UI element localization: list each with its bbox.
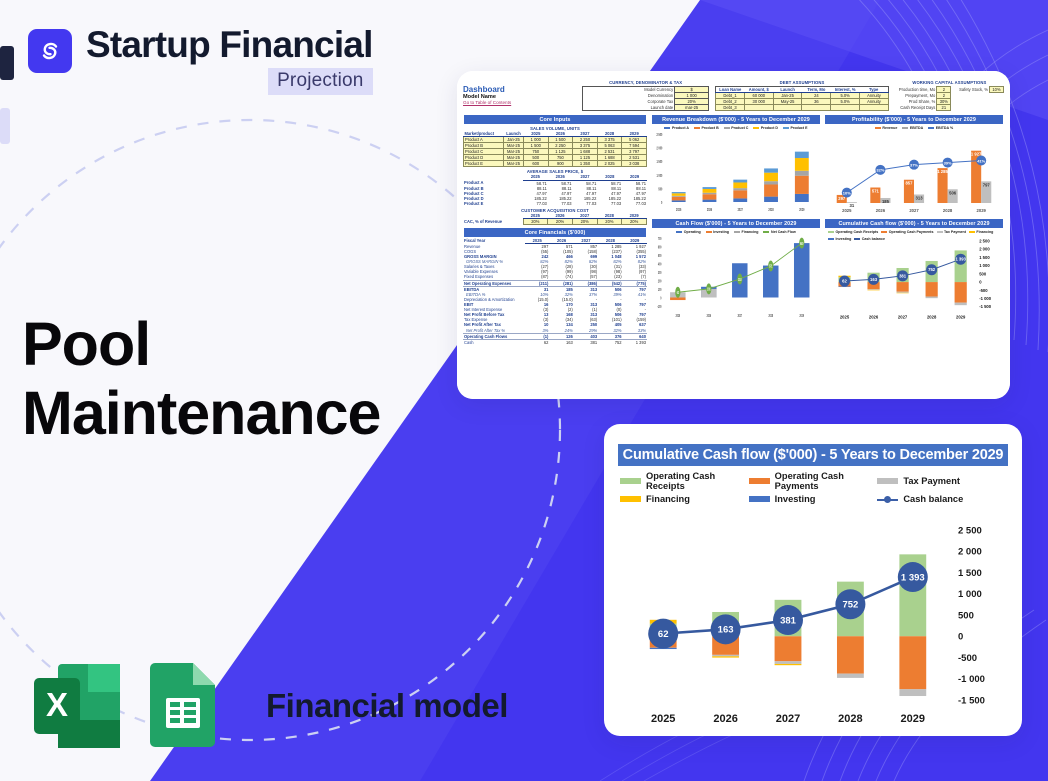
svg-text:2029: 2029: [901, 713, 925, 725]
legend-item: Financing: [734, 230, 758, 234]
legend-item-financing: Financing: [620, 494, 749, 504]
svg-text:1 000: 1 000: [958, 589, 982, 600]
legend-item: EBITDA %: [928, 126, 953, 130]
svg-text:797: 797: [983, 183, 991, 188]
cac-table: 2025 2026 2027 2028 2029 CAC, % of Reven…: [463, 213, 647, 225]
svg-text:0: 0: [958, 632, 963, 643]
microsoft-excel-icon: X: [30, 660, 126, 752]
chart-plot-area: 297315711858573131 2855061 92779710%32%3…: [824, 130, 1004, 214]
svg-text:2025: 2025: [842, 208, 852, 213]
legend-item: Tax Payment: [937, 230, 966, 234]
svg-text:10%: 10%: [843, 191, 851, 196]
svg-text:300: 300: [658, 271, 662, 276]
format-badges: X Financial model: [30, 660, 508, 752]
svg-text:700: 700: [658, 237, 662, 242]
svg-text:2025: 2025: [651, 713, 675, 725]
dashboard-title: Dashboard: [463, 85, 582, 94]
svg-text:-500: -500: [958, 653, 977, 664]
svg-text:1 393: 1 393: [955, 257, 966, 262]
svg-text:1 285: 1 285: [937, 170, 948, 175]
table-row: Product E77.0377.0377.0377.0377.03: [463, 201, 647, 206]
page-title-line-1: Pool: [22, 310, 381, 379]
svg-text:2026: 2026: [869, 315, 879, 320]
svg-text:640: 640: [800, 242, 803, 247]
svg-text:-500: -500: [979, 288, 988, 293]
svg-text:-1 500: -1 500: [958, 695, 985, 706]
svg-text:-1 000: -1 000: [958, 674, 985, 685]
core-financials-title: Core Financials ($'000): [463, 227, 647, 237]
svg-text:2029: 2029: [800, 314, 804, 319]
core-inputs-title: Core Inputs: [463, 114, 647, 124]
svg-text:600: 600: [658, 245, 662, 250]
svg-text:500: 500: [979, 272, 987, 277]
svg-text:500: 500: [658, 254, 662, 259]
svg-text:1 000: 1 000: [979, 264, 990, 269]
legend-item: Operating Cash Payments: [881, 230, 933, 234]
svg-text:2 500: 2 500: [979, 239, 990, 244]
chart-title: Revenue Breakdown ($'000) - 5 Years to D…: [651, 114, 821, 124]
cell: 1 393: [623, 339, 647, 345]
svg-text:2029: 2029: [799, 206, 805, 212]
chart-title: Cumulative Cash flow ($'000) - 5 Years t…: [618, 444, 1008, 466]
google-sheets-icon: [144, 660, 240, 752]
chart-plot-area: 2 5002 0001 5001 00050002025202620272028…: [651, 130, 821, 214]
svg-text:1 393: 1 393: [901, 572, 925, 583]
excel-glyph-icon: X: [30, 660, 126, 752]
legend-item: Financing: [969, 230, 993, 234]
currency-table: Model Currency$ Denomination1 000 Corpor…: [582, 86, 709, 111]
svg-text:857: 857: [905, 181, 913, 186]
svg-text:-1 500: -1 500: [979, 305, 992, 310]
svg-text:313: 313: [916, 196, 924, 201]
legend-item: Investing: [706, 230, 729, 234]
svg-text:500: 500: [958, 610, 974, 621]
svg-text:1 500: 1 500: [656, 159, 662, 165]
svg-text:1 500: 1 500: [979, 255, 990, 260]
sheets-glyph-icon: [144, 660, 240, 752]
chart-legend: Product A Product B Product C Product D …: [651, 125, 821, 130]
svg-text:1 500: 1 500: [958, 568, 982, 579]
svg-text:2029: 2029: [956, 315, 966, 320]
legend-item: Net Cash Flow: [763, 230, 795, 234]
cell: 62: [525, 339, 549, 345]
svg-text:163: 163: [718, 625, 734, 636]
svg-text:185: 185: [882, 199, 890, 204]
chart-legend: Operating Investing Financing Net Cash F…: [651, 229, 821, 234]
chart-title: Profitability ($'000) - 5 Years to Decem…: [824, 114, 1004, 124]
svg-text:2 000: 2 000: [979, 247, 990, 252]
svg-text:371: 371: [769, 264, 772, 269]
svg-text:2028: 2028: [943, 208, 953, 213]
row-label: Cash: [463, 339, 525, 345]
svg-text:2025: 2025: [840, 315, 850, 320]
svg-text:62: 62: [658, 629, 669, 640]
svg-text:2 500: 2 500: [656, 131, 662, 137]
svg-text:41%: 41%: [977, 159, 985, 164]
working-capital-table: Production time, Mo 2 Safety Stock, % 10…: [895, 86, 1004, 111]
logo-mark-icon: [28, 29, 72, 73]
chart-title: Cumulative Cash flow ($'000) - 5 Years t…: [824, 218, 1004, 228]
legend-item: Product C: [724, 126, 749, 130]
svg-text:2027: 2027: [738, 314, 742, 319]
core-financials-table: Fiscal Year 2025 2026 2027 2028 2029 Rev…: [463, 238, 647, 345]
table-row: CAC, % of Revenue 20% 20% 20% 20% 20%: [463, 219, 647, 225]
svg-text:200: 200: [658, 279, 662, 284]
svg-text:0: 0: [661, 199, 662, 205]
svg-text:2028: 2028: [927, 315, 937, 320]
brand-logo: Startup Financial Projection: [28, 26, 373, 95]
chart-legend: Operating Cash Receipts Operating Cash P…: [620, 471, 1006, 504]
svg-text:506: 506: [949, 191, 957, 196]
legend-item-operating-cash-receipts: Operating Cash Receipts: [620, 471, 749, 491]
svg-text:752: 752: [928, 268, 936, 273]
wc-section-title: WORKING CAPITAL ASSUMPTIONS: [895, 80, 1004, 85]
cell: 381: [574, 339, 598, 345]
dashboard-screenshot-card[interactable]: Dashboard Model Name Go to Table of Cont…: [457, 71, 1010, 399]
logo-glyph-icon: [36, 37, 64, 65]
dashboard-toc-link[interactable]: Go to Table of Contents: [463, 100, 582, 105]
svg-text:-1 000: -1 000: [979, 296, 992, 301]
svg-text:100: 100: [658, 288, 662, 293]
legend-item: Operating: [676, 230, 700, 234]
svg-text:0: 0: [979, 280, 982, 285]
table-row: Debt_3: [716, 105, 889, 111]
chart-profitability[interactable]: Profitability ($'000) - 5 Years to Decem…: [824, 114, 1004, 215]
svg-text:2027: 2027: [776, 713, 800, 725]
svg-text:32%: 32%: [876, 168, 884, 173]
svg-text:163: 163: [870, 277, 878, 282]
chart-cash-flow[interactable]: Cash Flow ($'000) - 5 Years to December …: [651, 218, 821, 321]
brand-subtitle: Projection: [268, 68, 373, 95]
brand-title: Startup Financial: [86, 26, 373, 65]
svg-text:218: 218: [738, 277, 741, 282]
debt-section-title: DEBT ASSUMPTIONS: [715, 80, 889, 85]
svg-text:2027: 2027: [909, 208, 919, 213]
debt-table: Loan Name Amount, $ Launch Term, Mo Inte…: [715, 86, 889, 111]
svg-text:39%: 39%: [944, 161, 952, 166]
legend-item: EBITDA: [902, 126, 923, 130]
legend-item: Product D: [753, 126, 778, 130]
chart-legend: Revenue EBITDA EBITDA %: [824, 125, 1004, 130]
chart-title: Cash Flow ($'000) - 5 Years to December …: [651, 218, 821, 228]
svg-text:2 500: 2 500: [958, 525, 982, 536]
svg-text:1 000: 1 000: [656, 172, 662, 178]
svg-text:2026: 2026: [876, 208, 886, 213]
table-row: Product EMar-256009001 3502 0253 038: [464, 161, 647, 167]
svg-text:2029: 2029: [977, 208, 987, 213]
table-row: Launch datemar-25: [583, 105, 709, 111]
svg-text:2025: 2025: [676, 206, 682, 212]
legend-item: Product B: [694, 126, 719, 130]
legend-item: Operating Cash Receipts: [828, 230, 878, 234]
cumulative-cash-flow-chart-card[interactable]: Cumulative Cash flow ($'000) - 5 Years t…: [604, 424, 1022, 736]
legend-item-operating-cash-payments: Operating Cash Payments: [749, 471, 878, 491]
svg-text:571: 571: [872, 189, 880, 194]
svg-text:2025: 2025: [676, 314, 680, 319]
chart-plot-area: 2 5002 0001 5001 0005000-500-1 000-1 500…: [824, 237, 1004, 320]
cell: 752: [598, 339, 622, 345]
avg-price-table: 2025 2026 2027 2028 2029 Product A58.715…: [463, 174, 647, 206]
svg-text:381: 381: [899, 274, 907, 279]
format-label: Financial model: [266, 687, 508, 725]
svg-text:2028: 2028: [838, 713, 862, 725]
table-row: Cash621633817521 393: [463, 339, 647, 345]
svg-text:2026: 2026: [707, 314, 711, 319]
chart-plot-area: 7006005004003002001000-10020252026202720…: [651, 234, 821, 320]
svg-text:0: 0: [660, 296, 661, 301]
svg-text:381: 381: [780, 615, 797, 626]
svg-text:37%: 37%: [910, 163, 918, 168]
svg-text:500: 500: [658, 186, 662, 192]
svg-text:101: 101: [707, 287, 710, 292]
legend-item: Product E: [783, 126, 807, 130]
svg-text:2026: 2026: [707, 206, 713, 212]
chart-revenue-breakdown[interactable]: Revenue Breakdown ($'000) - 5 Years to D…: [651, 114, 821, 215]
sales-volume-table: Market/product Launch 2025 2026 2027 202…: [463, 131, 647, 168]
svg-text:62: 62: [677, 291, 679, 296]
svg-text:2028: 2028: [768, 206, 774, 212]
dashboard-sheet: Dashboard Model Name Go to Table of Cont…: [457, 71, 1010, 399]
chart-plot-area: 2 5002 0001 5001 0005000-500-1 000-1 500…: [604, 524, 1022, 736]
svg-text:2026: 2026: [713, 713, 737, 725]
currency-section-title: CURRENCY, DENOMINATOR & TAX: [582, 80, 709, 85]
page-title: Pool Maintenance: [22, 310, 381, 448]
svg-text:62: 62: [842, 279, 847, 284]
table-row: Cash Receipt Days 21: [895, 105, 1004, 111]
legend-item-cash-balance: Cash balance: [877, 494, 1006, 504]
svg-text:400: 400: [658, 262, 662, 267]
svg-text:2027: 2027: [898, 315, 908, 320]
svg-text:2027: 2027: [738, 206, 743, 212]
legend-item-tax-payment: Tax Payment: [877, 471, 1006, 491]
svg-text:2 000: 2 000: [958, 547, 982, 558]
svg-text:2 000: 2 000: [656, 145, 662, 151]
legend-item: Revenue: [875, 126, 897, 130]
page-title-line-2: Maintenance: [22, 379, 381, 448]
svg-text:2028: 2028: [769, 314, 773, 319]
svg-text:X: X: [46, 686, 68, 723]
legend-item-investing: Investing: [749, 494, 878, 504]
svg-text:-100: -100: [657, 305, 661, 310]
svg-text:752: 752: [842, 600, 858, 611]
cell: 163: [549, 339, 573, 345]
legend-item: Product A: [664, 126, 689, 130]
chart-cumulative-cash-flow[interactable]: Cumulative Cash flow ($'000) - 5 Years t…: [824, 218, 1004, 321]
